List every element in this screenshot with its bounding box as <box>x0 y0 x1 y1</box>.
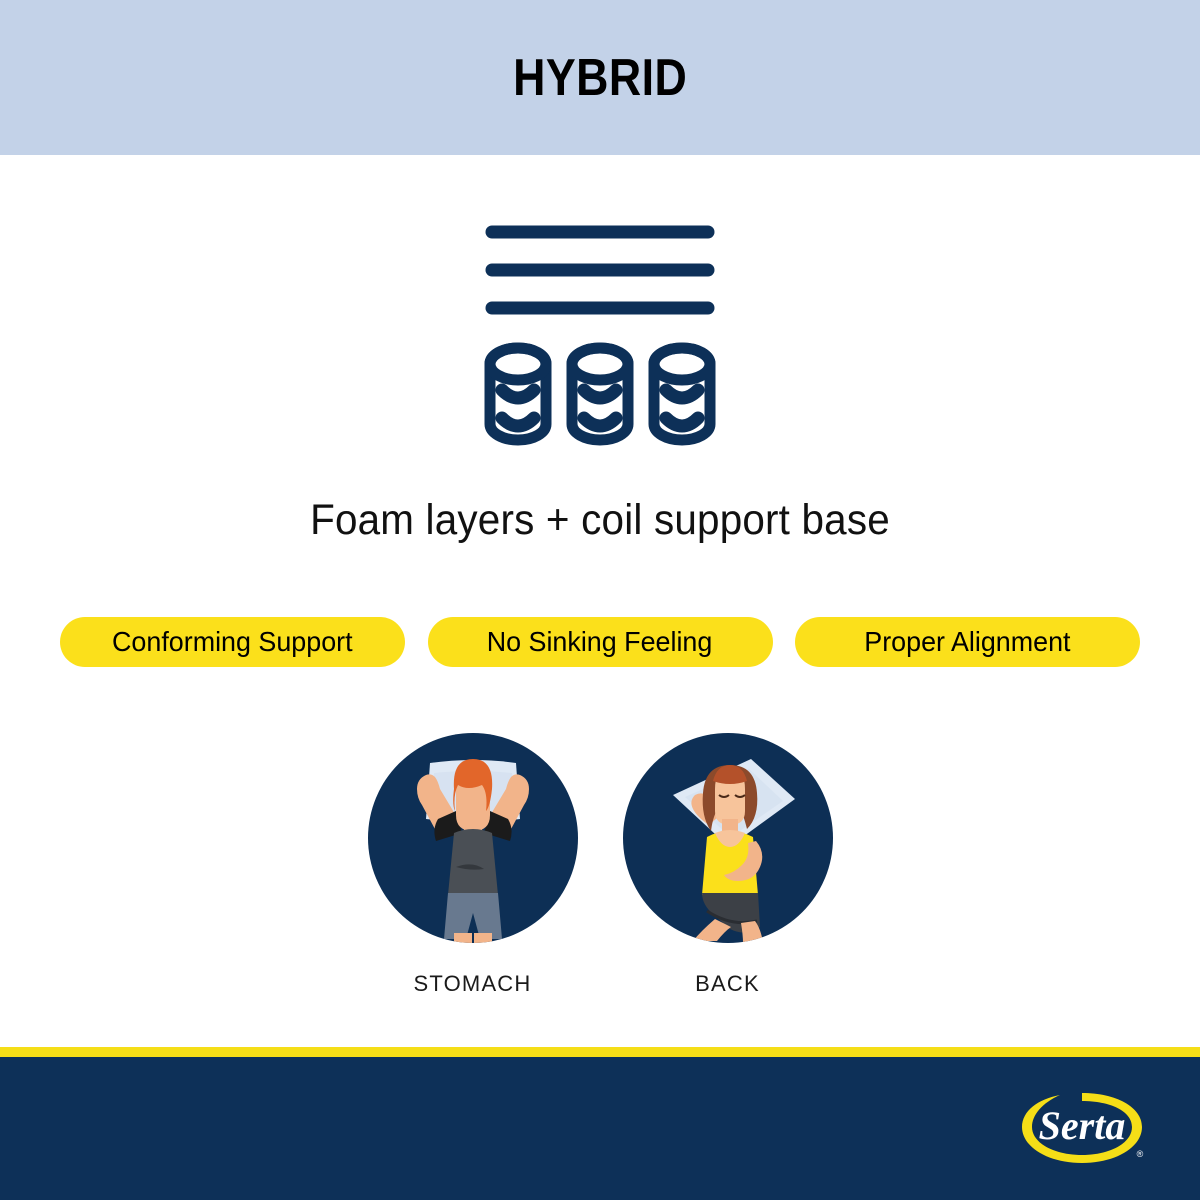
icon-container <box>0 218 1200 448</box>
feature-pill-no-sinking-feeling[interactable]: No Sinking Feeling <box>428 617 773 667</box>
serta-logo-text: Serta <box>1039 1103 1126 1148</box>
sleep-position-stomach[interactable]: STOMACH <box>368 733 578 997</box>
hybrid-mattress-icon <box>480 218 720 448</box>
feature-pill-label: No Sinking Feeling <box>487 626 713 658</box>
subtitle-text: Foam layers + coil support base <box>36 496 1164 545</box>
sleep-position-list: STOMACH <box>0 733 1200 997</box>
sleep-position-label: STOMACH <box>413 971 531 997</box>
sleep-position-back[interactable]: BACK <box>623 733 833 997</box>
leg <box>454 933 472 943</box>
page-title: HYBRID <box>513 52 687 104</box>
support-coil <box>654 348 710 440</box>
footer-accent-stripe <box>0 1047 1200 1057</box>
header-bar: HYBRID <box>0 0 1200 155</box>
sleep-position-label: BACK <box>695 971 760 997</box>
feature-pill-conforming-support[interactable]: Conforming Support <box>60 617 405 667</box>
serta-logo-trademark: ® <box>1137 1149 1144 1159</box>
feature-pill-label: Proper Alignment <box>864 626 1070 658</box>
shirt <box>448 829 498 895</box>
back-sleeper-circle <box>623 733 833 943</box>
serta-logo-mark: Serta ® <box>1012 1085 1152 1177</box>
feature-pill-list: Conforming Support No Sinking Feeling Pr… <box>60 617 1140 667</box>
hybrid-mattress-infographic: HYBRID <box>0 0 1200 1200</box>
feature-pill-proper-alignment[interactable]: Proper Alignment <box>795 617 1140 667</box>
head <box>453 759 492 831</box>
feature-pill-label: Conforming Support <box>112 626 353 658</box>
stomach-sleeper-illustration <box>368 733 578 943</box>
support-coil <box>572 348 628 440</box>
leg <box>474 933 492 943</box>
stomach-sleeper-circle <box>368 733 578 943</box>
back-sleeper-illustration <box>623 733 833 943</box>
shorts <box>444 893 502 939</box>
support-coil <box>490 348 546 440</box>
serta-logo[interactable]: Serta ® <box>1012 1085 1152 1177</box>
